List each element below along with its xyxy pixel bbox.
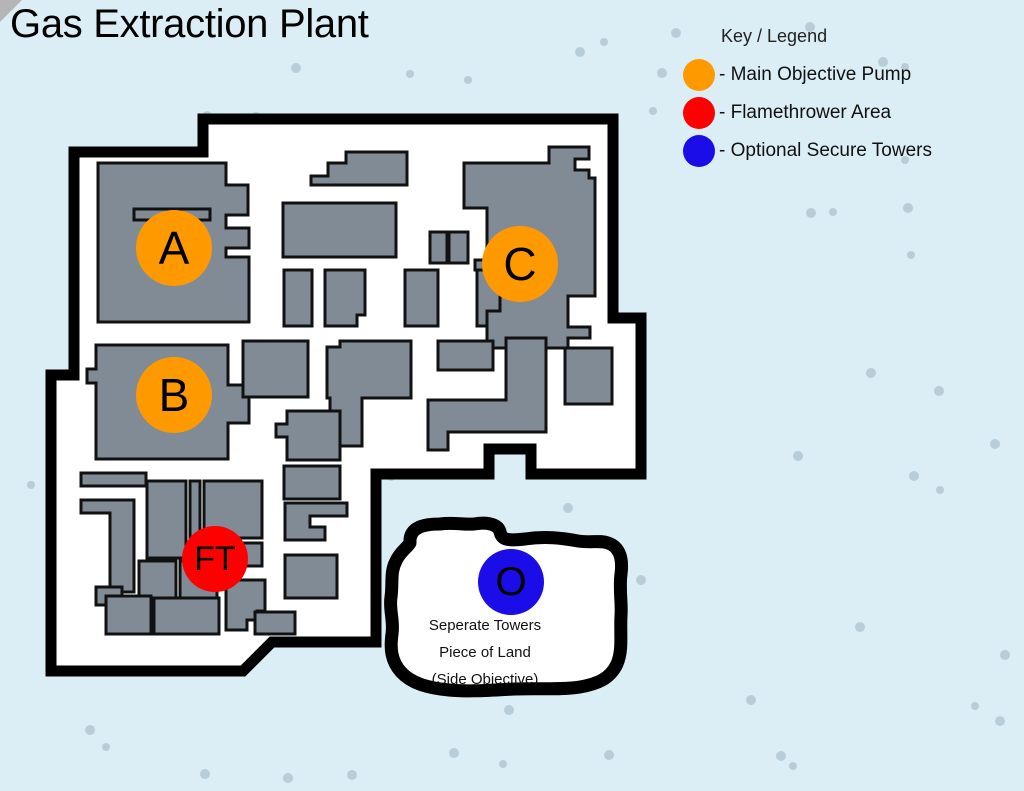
map-marker-ft[interactable]: FT: [182, 526, 248, 592]
island-label-line-3: (Side Objective): [375, 671, 595, 688]
legend-item-optional-secure-towers: - Optional Secure Towers: [683, 132, 1018, 170]
map-marker-a[interactable]: A: [136, 210, 212, 286]
legend-title: Key / Legend: [721, 26, 1018, 47]
legend-item-label: - Flamethrower Area: [719, 102, 891, 124]
island-label-line-2: Piece of Land: [375, 644, 595, 661]
map-marker-label: FT: [194, 542, 236, 576]
map-marker-c[interactable]: C: [482, 226, 558, 302]
orange-circle-icon: [683, 59, 715, 91]
map-marker-b[interactable]: B: [136, 357, 212, 433]
legend-panel: Key / Legend - Main Objective Pump - Fla…: [683, 26, 1018, 170]
blue-circle-icon: [683, 135, 715, 167]
page-title: Gas Extraction Plant: [10, 2, 369, 47]
map-canvas: Gas Extraction Plant Key / Legend - Main…: [0, 0, 1024, 791]
map-marker-label: C: [503, 241, 536, 287]
map-marker-label: B: [159, 372, 190, 418]
red-circle-icon: [683, 97, 715, 129]
legend-item-label: - Main Objective Pump: [719, 64, 911, 86]
legend-item-label: - Optional Secure Towers: [719, 140, 932, 162]
island-label-line-1: Seperate Towers: [375, 617, 595, 634]
map-marker-o[interactable]: O: [478, 549, 544, 615]
legend-item-flamethrower-area: - Flamethrower Area: [683, 94, 1018, 132]
map-marker-label: O: [495, 562, 526, 602]
legend-item-main-objective-pump: - Main Objective Pump: [683, 56, 1018, 94]
map-marker-label: A: [159, 225, 190, 271]
